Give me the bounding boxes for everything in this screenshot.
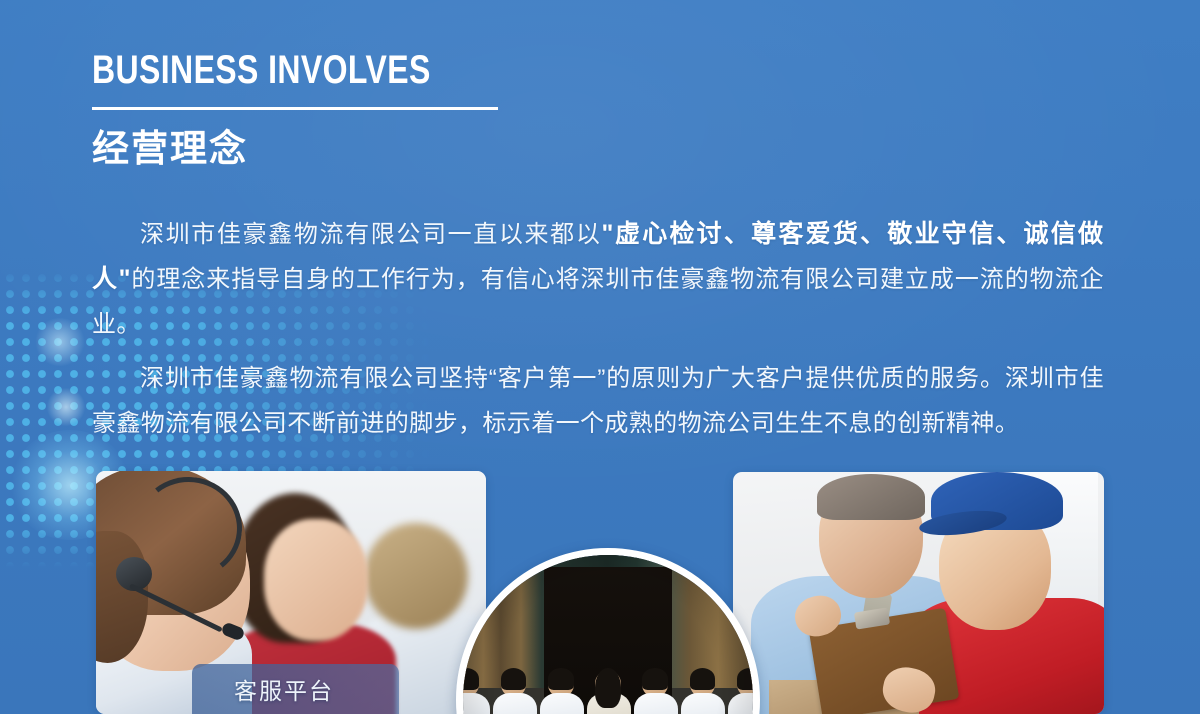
photo-cargo-service[interactable]: 货物服务 xyxy=(733,472,1104,714)
photo-vignette xyxy=(463,555,753,714)
dot-glow-highlight xyxy=(46,388,86,426)
caption-label: 客服平台 xyxy=(234,672,334,706)
quote-open-mark: " xyxy=(601,220,613,248)
photo-team-group[interactable] xyxy=(456,548,760,714)
page-title-english: BUSINESS INVOLVES xyxy=(92,48,588,92)
page-title-chinese: 经营理念 xyxy=(92,110,712,171)
caption-bar-customer-service: 客服平台 xyxy=(192,664,399,714)
body-copy: 深圳市佳豪鑫物流有限公司一直以来都以"虚心检讨、尊客爱货、敬业守信、诚信做人"的… xyxy=(92,212,1104,446)
quote-close-mark: " xyxy=(119,265,131,293)
photo-customer-service[interactable]: 客服平台 xyxy=(96,471,486,714)
dot-glow-highlight xyxy=(34,318,86,366)
top-edge-strip xyxy=(0,0,1200,5)
background-colleague-hair xyxy=(364,523,468,629)
photo-gallery: 客服平台 货物服务 xyxy=(0,460,1200,714)
paragraph-service: 深圳市佳豪鑫物流有限公司坚持“客户第一”的原则为广大客户提供优质的服务。深圳市佳… xyxy=(92,356,1104,446)
paragraph-philosophy: 深圳市佳豪鑫物流有限公司一直以来都以"虚心检讨、尊客爱货、敬业守信、诚信做人"的… xyxy=(92,212,1104,347)
red-shirt-colleague-face xyxy=(264,519,368,641)
delivery-illustration xyxy=(733,472,1104,714)
paragraph1-tail: 的理念来指导自身的工作行为，有信心将深圳市佳豪鑫物流有限公司建立成一流的物流企业… xyxy=(92,266,1104,338)
paragraph1-lead: 深圳市佳豪鑫物流有限公司一直以来都以 xyxy=(140,221,601,248)
manager-hair xyxy=(817,474,925,520)
section-header: BUSINESS INVOLVES 经营理念 xyxy=(92,48,712,171)
business-involves-banner: BUSINESS INVOLVES 经营理念 深圳市佳豪鑫物流有限公司一直以来都… xyxy=(0,0,1200,714)
team-illustration xyxy=(463,555,753,714)
